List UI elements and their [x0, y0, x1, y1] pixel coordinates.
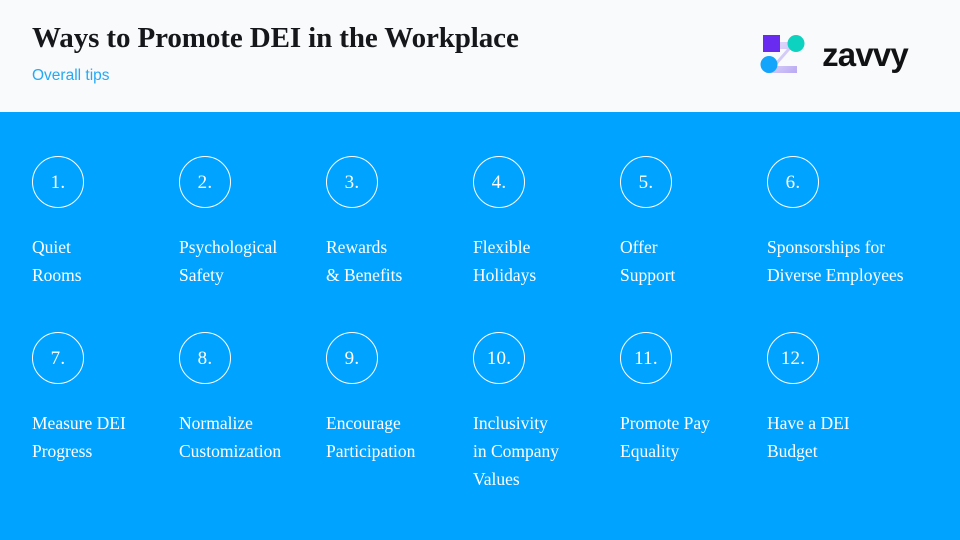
- tip-number-circle: 6.: [767, 156, 819, 208]
- tip-label: Offer Support: [620, 234, 759, 289]
- tip-item-8: 8. Normalize Customization: [179, 332, 326, 465]
- tip-label: Sponsorships for Diverse Employees: [767, 234, 939, 289]
- brand-logo: zavvy: [756, 28, 908, 80]
- tip-label: Rewards & Benefits: [326, 234, 465, 289]
- tip-number: 3.: [345, 173, 360, 192]
- tip-item-2: 2. Psychological Safety: [179, 156, 326, 289]
- tip-number: 2.: [198, 173, 213, 192]
- slide-canvas: Ways to Promote DEI in the Workplace Ove…: [0, 0, 960, 540]
- tip-label: Encourage Participation: [326, 410, 465, 465]
- tip-label: Inclusivity in Company Values: [473, 410, 612, 493]
- tip-number: 6.: [786, 173, 801, 192]
- tip-item-6: 6. Sponsorships for Diverse Employees: [767, 156, 947, 289]
- page-title: Ways to Promote DEI in the Workplace: [32, 22, 519, 55]
- tip-number-circle: 9.: [326, 332, 378, 384]
- tip-item-12: 12. Have a DEI Budget: [767, 332, 947, 465]
- tip-number-circle: 3.: [326, 156, 378, 208]
- tips-grid: 1. Quiet Rooms 2. Psychological Safety 3…: [32, 156, 942, 493]
- tip-item-4: 4. Flexible Holidays: [473, 156, 620, 289]
- tip-item-7: 7. Measure DEI Progress: [32, 332, 179, 465]
- tip-number-circle: 8.: [179, 332, 231, 384]
- tips-row-2: 7. Measure DEI Progress 8. Normalize Cus…: [32, 332, 942, 493]
- tip-number: 8.: [198, 349, 213, 368]
- tip-label: Psychological Safety: [179, 234, 318, 289]
- tip-label: Quiet Rooms: [32, 234, 171, 289]
- tip-number: 7.: [51, 349, 66, 368]
- tip-item-3: 3. Rewards & Benefits: [326, 156, 473, 289]
- tip-number: 1.: [51, 173, 66, 192]
- tip-number: 5.: [639, 173, 654, 192]
- tip-number-circle: 12.: [767, 332, 819, 384]
- tip-label: Measure DEI Progress: [32, 410, 171, 465]
- tip-item-9: 9. Encourage Participation: [326, 332, 473, 465]
- tip-label: Flexible Holidays: [473, 234, 612, 289]
- tip-item-1: 1. Quiet Rooms: [32, 156, 179, 289]
- tip-number: 10.: [487, 349, 511, 368]
- tip-number-circle: 7.: [32, 332, 84, 384]
- title-block: Ways to Promote DEI in the Workplace Ove…: [32, 22, 519, 85]
- tip-number-circle: 10.: [473, 332, 525, 384]
- tip-number: 4.: [492, 173, 507, 192]
- tip-item-10: 10. Inclusivity in Company Values: [473, 332, 620, 493]
- tip-number-circle: 2.: [179, 156, 231, 208]
- tip-number: 9.: [345, 349, 360, 368]
- tip-number: 11.: [634, 349, 658, 368]
- brand-wordmark: zavvy: [822, 38, 908, 71]
- slide-header: Ways to Promote DEI in the Workplace Ove…: [0, 0, 960, 112]
- tip-label: Have a DEI Budget: [767, 410, 939, 465]
- tip-label: Normalize Customization: [179, 410, 318, 465]
- tips-row-1: 1. Quiet Rooms 2. Psychological Safety 3…: [32, 156, 942, 289]
- tip-item-11: 11. Promote Pay Equality: [620, 332, 767, 465]
- tip-number-circle: 1.: [32, 156, 84, 208]
- tip-number-circle: 11.: [620, 332, 672, 384]
- tip-item-5: 5. Offer Support: [620, 156, 767, 289]
- page-subtitle: Overall tips: [32, 67, 519, 85]
- tip-number-circle: 4.: [473, 156, 525, 208]
- zavvy-logo-icon: [756, 28, 808, 80]
- tip-label: Promote Pay Equality: [620, 410, 759, 465]
- tip-number-circle: 5.: [620, 156, 672, 208]
- tip-number: 12.: [781, 349, 805, 368]
